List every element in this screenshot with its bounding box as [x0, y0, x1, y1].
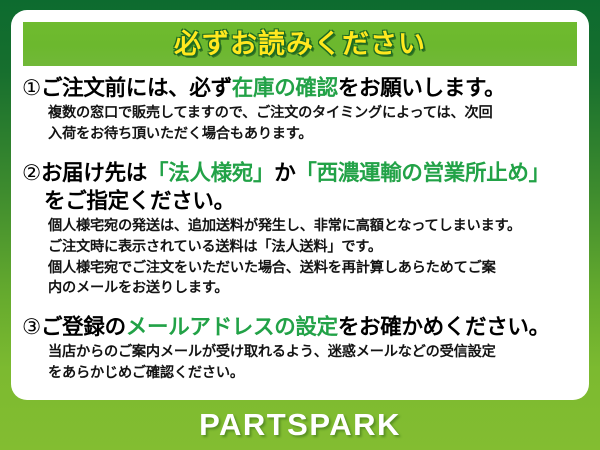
item-3-head-part-3: をお確かめください。: [338, 315, 550, 339]
item-2-head-part-3: か: [274, 161, 295, 185]
notice-item-2: ②お届け先は「法人様宛」か「西濃運輸の営業所止め」 をご指定ください。 個人様宅…: [22, 159, 579, 299]
item-2-body-line-4: 内のメールをお送りします。: [48, 278, 579, 299]
item-2-body-line-3: 個人様宅宛でご注文をいただいた場合、送料を再計算しあらためてご案: [48, 258, 579, 279]
notice-item-1: ①ご注文前には、必ず在庫の確認をお願いします。 複数の窓口で販売してますので、ご…: [22, 74, 579, 145]
item-1-head-part-3: をお願いします。: [338, 76, 505, 100]
item-2-head-part-1: お届け先は: [41, 161, 147, 185]
item-3-heading: ③ご登録のメールアドレスの設定をお確かめください。: [22, 313, 579, 341]
item-1-body-line-1: 複数の窓口で販売してますので、ご注文のタイミングによっては、次回: [48, 103, 579, 124]
white-panel: 必ずお読みください ①ご注文前には、必ず在庫の確認をお願いします。 複数の窓口で…: [11, 10, 589, 400]
item-1-head-part-1: ご注文前には、必ず: [41, 76, 232, 100]
item-2-body: 個人様宅宛の発送は、追加送料が発生し、非常に高額となってしまいます。 ご注文時に…: [22, 216, 579, 298]
item-3-number: ③: [22, 315, 41, 339]
item-1-body-line-2: 入荷をお待ち頂いただく場合もあります。: [48, 124, 579, 145]
notice-content: ①ご注文前には、必ず在庫の確認をお願いします。 複数の窓口で販売してますので、ご…: [11, 68, 589, 385]
item-3-head-part-1: ご登録の: [41, 315, 126, 339]
item-2-head-highlight-1: 「法人様宛」: [147, 161, 274, 185]
item-2-head-line2-text: をご指定ください。: [22, 187, 235, 215]
item-1-heading: ①ご注文前には、必ず在庫の確認をお願いします。: [22, 74, 579, 102]
item-3-body-line-2: をあらかじめご確認ください。: [48, 363, 579, 384]
item-3-body-line-1: 当店からのご案内メールが受け取れるよう、迷惑メールなどの受信設定: [48, 342, 579, 363]
title-banner: 必ずお読みください: [23, 22, 577, 66]
item-2-body-line-2: ご注文時に表示されている送料は「法人送料」です。: [48, 237, 579, 258]
item-2-heading-line2: をご指定ください。: [22, 187, 579, 215]
banner-title: 必ずお読みください: [174, 31, 426, 58]
footer-bar: PARTSPARK: [0, 400, 600, 450]
item-2-heading: ②お届け先は「法人様宛」か「西濃運輸の営業所止め」: [22, 159, 579, 187]
item-2-number: ②: [22, 161, 41, 185]
brand-logo-text: PARTSPARK: [199, 407, 401, 443]
notice-card: 必ずお読みください ①ご注文前には、必ず在庫の確認をお願いします。 複数の窓口で…: [0, 0, 600, 450]
item-3-body: 当店からのご案内メールが受け取れるよう、迷惑メールなどの受信設定 をあらかじめご…: [22, 342, 579, 383]
item-1-number: ①: [22, 76, 41, 100]
item-1-head-highlight: 在庫の確認: [232, 76, 338, 100]
item-2-body-line-1: 個人様宅宛の発送は、追加送料が発生し、非常に高額となってしまいます。: [48, 216, 579, 237]
notice-item-3: ③ご登録のメールアドレスの設定をお確かめください。 当店からのご案内メールが受け…: [22, 313, 579, 384]
item-2-head-highlight-2: 「西濃運輸の営業所止め」: [295, 161, 549, 185]
item-3-head-highlight: メールアドレスの設定: [126, 315, 338, 339]
item-1-body: 複数の窓口で販売してますので、ご注文のタイミングによっては、次回 入荷をお待ち頂…: [22, 103, 579, 144]
